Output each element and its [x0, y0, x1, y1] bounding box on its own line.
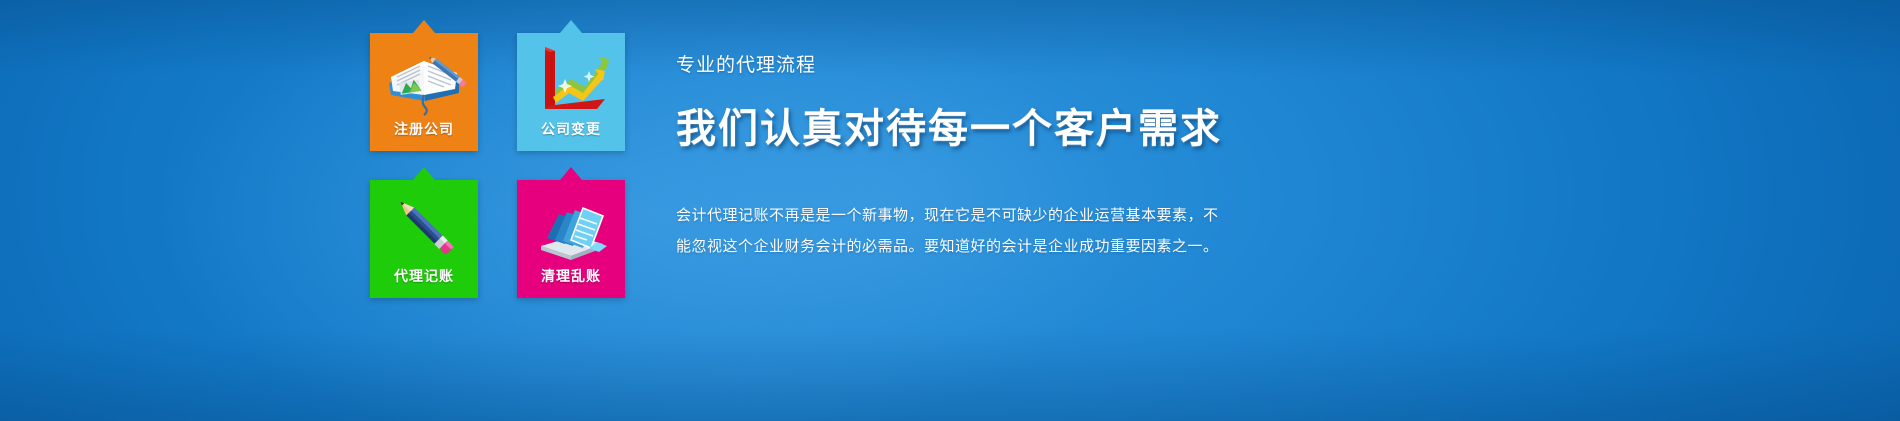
banner-headline: 我们认真对待每一个客户需求 — [676, 104, 1576, 154]
body-line: 能忽视这个企业财务会计的必需品。要知道好的会计是企业成功重要因素之一。 — [676, 231, 1236, 262]
tile-label: 清理乱账 — [517, 266, 625, 286]
tile-label: 公司变更 — [517, 119, 625, 139]
tile-company-change[interactable]: 公司变更 — [517, 33, 625, 151]
tile-notch-icon — [413, 20, 435, 33]
body-line: 会计代理记账不再是是一个新事物，现在它是不可缺少的企业运营基本要素，不 — [676, 200, 1236, 231]
document-stack-icon — [517, 186, 625, 268]
tile-notch-icon — [560, 167, 582, 180]
banner-eyebrow: 专业的代理流程 — [676, 52, 1576, 78]
line-chart-icon — [517, 39, 625, 121]
tile-register-company[interactable]: 注册公司 — [370, 33, 478, 151]
tile-notch-icon — [560, 20, 582, 33]
promo-banner: 注册公司 — [0, 0, 1900, 421]
tile-clean-up-accounts[interactable]: 清理乱账 — [517, 180, 625, 298]
open-book-icon — [370, 39, 478, 121]
banner-copy: 专业的代理流程 我们认真对待每一个客户需求 — [676, 52, 1576, 154]
banner-body-copy: 会计代理记账不再是是一个新事物，现在它是不可缺少的企业运营基本要素，不 能忽视这… — [676, 200, 1236, 262]
tile-label: 注册公司 — [370, 119, 478, 139]
tile-agency-bookkeeping[interactable]: 代理记账 — [370, 180, 478, 298]
pencil-icon — [370, 186, 478, 268]
service-tile-grid: 注册公司 — [370, 33, 628, 298]
tile-notch-icon — [413, 167, 435, 180]
tile-label: 代理记账 — [370, 266, 478, 286]
